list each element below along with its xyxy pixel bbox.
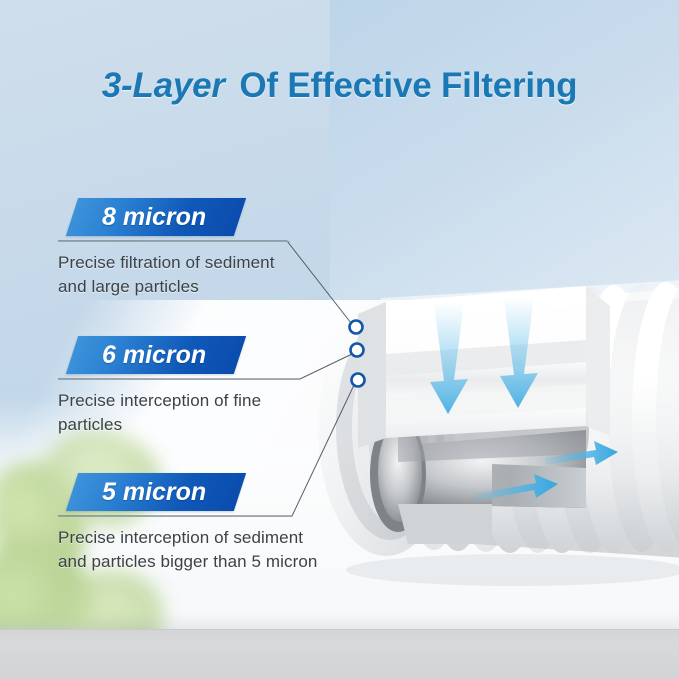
badge-label-5-micron: 5 micron (102, 473, 206, 511)
badge-row-5-micron: 5 micron (72, 473, 358, 511)
badge-label-8-micron: 8 micron (102, 198, 206, 236)
callout-5-micron: 5 micron Precise interception of sedimen… (58, 473, 358, 574)
callout-6-micron: 6 micron Precise interception of fine pa… (58, 336, 308, 437)
badge-8-micron[interactable]: 8 micron (66, 198, 247, 236)
infographic-canvas: 3-Layer Of Effective Filtering (0, 0, 679, 679)
callout-8-micron: 8 micron Precise filtration of sediment … (58, 198, 308, 299)
badge-5-micron[interactable]: 5 micron (66, 473, 247, 511)
badge-6-micron[interactable]: 6 micron (66, 336, 247, 374)
callout-underline-6-micron (58, 379, 298, 380)
page-title-rest: Of Effective Filtering (230, 66, 577, 105)
callout-description-5-micron: Precise interception of sediment and par… (58, 526, 358, 574)
page-title-accent: 3-Layer (102, 66, 230, 105)
callout-description-8-micron: Precise filtration of sediment and large… (58, 251, 308, 299)
callout-description-6-micron: Precise interception of fine particles (58, 389, 308, 437)
callout-underline-8-micron (58, 241, 290, 242)
filter-shadow (346, 554, 679, 586)
callout-underline-5-micron (58, 516, 292, 517)
page-title: 3-Layer Of Effective Filtering (0, 66, 679, 106)
table-surface (0, 629, 679, 679)
badge-row-6-micron: 6 micron (72, 336, 308, 374)
badge-label-6-micron: 6 micron (102, 336, 206, 374)
filter-cutaway-wedge (358, 286, 610, 448)
badge-row-8-micron: 8 micron (72, 198, 308, 236)
